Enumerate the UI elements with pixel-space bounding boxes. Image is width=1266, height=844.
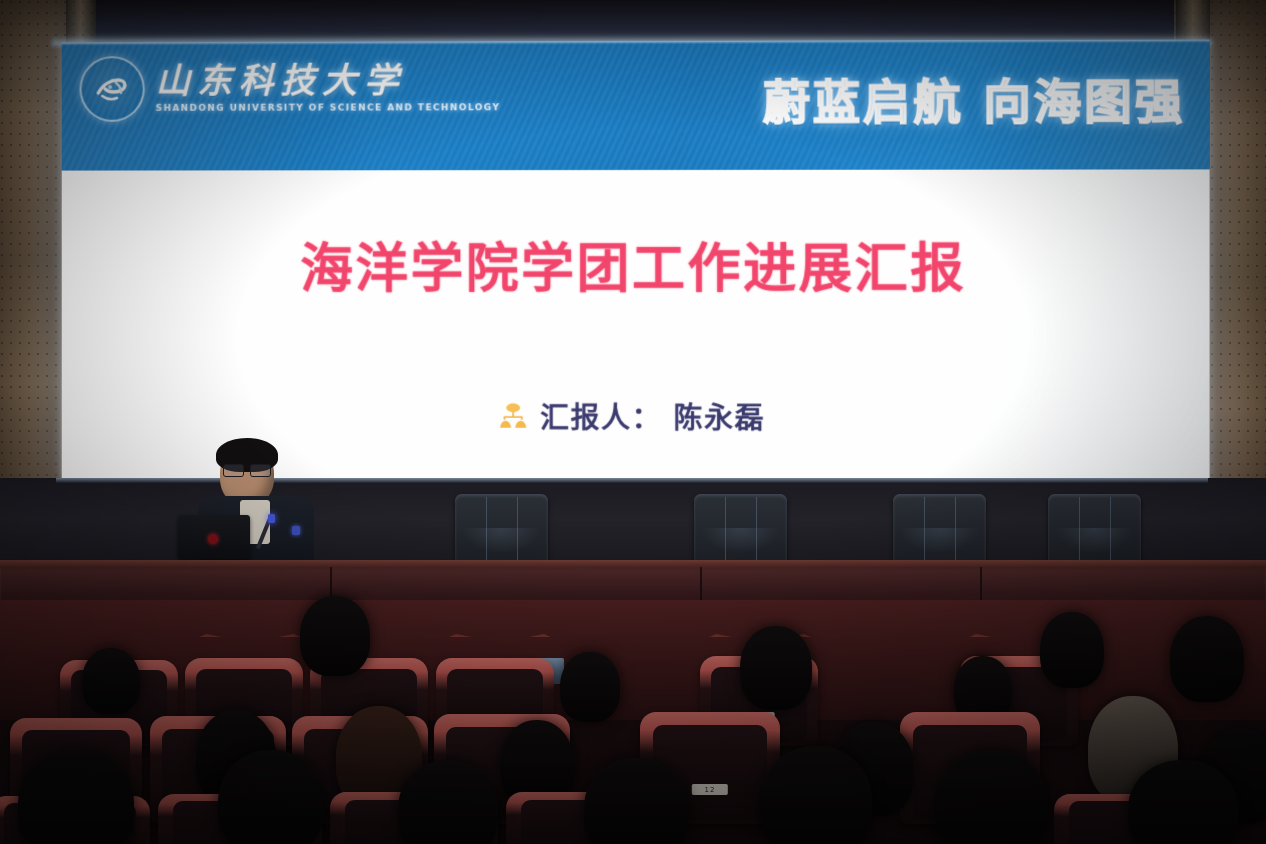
audience-head [760, 746, 872, 844]
audience-head [584, 758, 688, 844]
microphone-led-icon [268, 514, 275, 523]
audience-head [300, 596, 370, 676]
stage-chair [1048, 494, 1141, 568]
audience-head [18, 750, 134, 844]
stage-chair [694, 494, 787, 568]
stage-chair [893, 494, 986, 568]
slide-title: 海洋学院学团工作进展汇报 [62, 227, 1210, 303]
presenter-badge [292, 526, 300, 535]
audience-head [1128, 760, 1238, 844]
wall-panel-trim [400, 634, 600, 659]
audience-head [218, 750, 324, 844]
slide-body: 海洋学院学团工作进展汇报 汇报人： 陈永磊 [62, 169, 1210, 483]
audience-head [1170, 616, 1244, 702]
audience-head [740, 626, 812, 710]
audience-head [398, 760, 498, 844]
audience-head [82, 648, 140, 714]
audience-area: 10 11 12 13 [0, 600, 1266, 844]
stage-chair [455, 494, 548, 568]
auditorium-scene: 山东科技大学 SHANDONG UNIVERSITY OF SCIENCE AN… [0, 0, 1266, 844]
seat-number-plate: 12 [692, 784, 728, 795]
audience-head [1040, 612, 1104, 688]
presenter-laptop [178, 515, 250, 559]
presentation-slide: 山东科技大学 SHANDONG UNIVERSITY OF SCIENCE AN… [62, 40, 1210, 484]
university-name-cn: 山东科技大学 [156, 63, 501, 100]
slide-banner: 山东科技大学 SHANDONG UNIVERSITY OF SCIENCE AN… [62, 40, 1210, 172]
presenter-glasses [223, 464, 271, 475]
presenter-row: 汇报人： 陈永磊 [62, 394, 1210, 438]
audience-head [936, 750, 1048, 844]
audience-head [560, 652, 620, 722]
university-name-en: SHANDONG UNIVERSITY OF SCIENCE AND TECHN… [156, 103, 501, 114]
university-logo-block: 山东科技大学 SHANDONG UNIVERSITY OF SCIENCE AN… [80, 55, 501, 122]
laptop-logo-icon [208, 534, 218, 544]
university-names: 山东科技大学 SHANDONG UNIVERSITY OF SCIENCE AN… [156, 63, 501, 114]
presenter-name-text: 汇报人： 陈永磊 [540, 395, 765, 437]
podium-edge [0, 560, 1266, 567]
university-emblem-icon [80, 56, 145, 122]
banner-slogan: 蔚蓝启航 向海图强 [763, 63, 1186, 133]
org-chart-icon [499, 403, 527, 429]
projection-screen: 山东科技大学 SHANDONG UNIVERSITY OF SCIENCE AN… [62, 40, 1210, 484]
